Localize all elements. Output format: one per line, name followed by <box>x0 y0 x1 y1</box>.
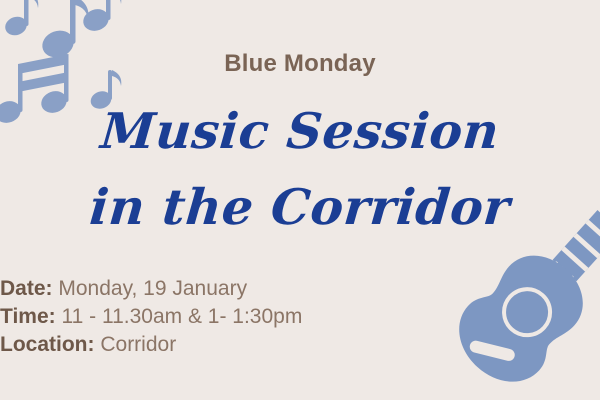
detail-label-location: Location: <box>0 333 95 356</box>
detail-row-time: Time: 11 - 11.30am & 1- 1:30pm <box>0 304 420 330</box>
poster-canvas: Blue Monday Music Session in the Corrido… <box>0 0 600 400</box>
detail-row-date: Date: Monday, 19 January <box>0 276 420 302</box>
acoustic-guitar-icon <box>416 210 600 400</box>
poster-title-line-2: in the Corridor <box>0 178 600 236</box>
detail-label-time: Time: <box>0 305 56 328</box>
detail-value-location: Corridor <box>100 333 176 356</box>
detail-value-date: Monday, 19 January <box>58 277 247 300</box>
detail-row-location: Location: Corridor <box>0 332 420 358</box>
detail-label-date: Date: <box>0 277 53 300</box>
poster-kicker: Blue Monday <box>0 50 600 78</box>
event-details: Date: Monday, 19 January Time: 11 - 11.3… <box>0 276 420 360</box>
detail-value-time: 11 - 11.30am & 1- 1:30pm <box>61 305 302 328</box>
poster-title-line-1: Music Session <box>0 102 600 160</box>
